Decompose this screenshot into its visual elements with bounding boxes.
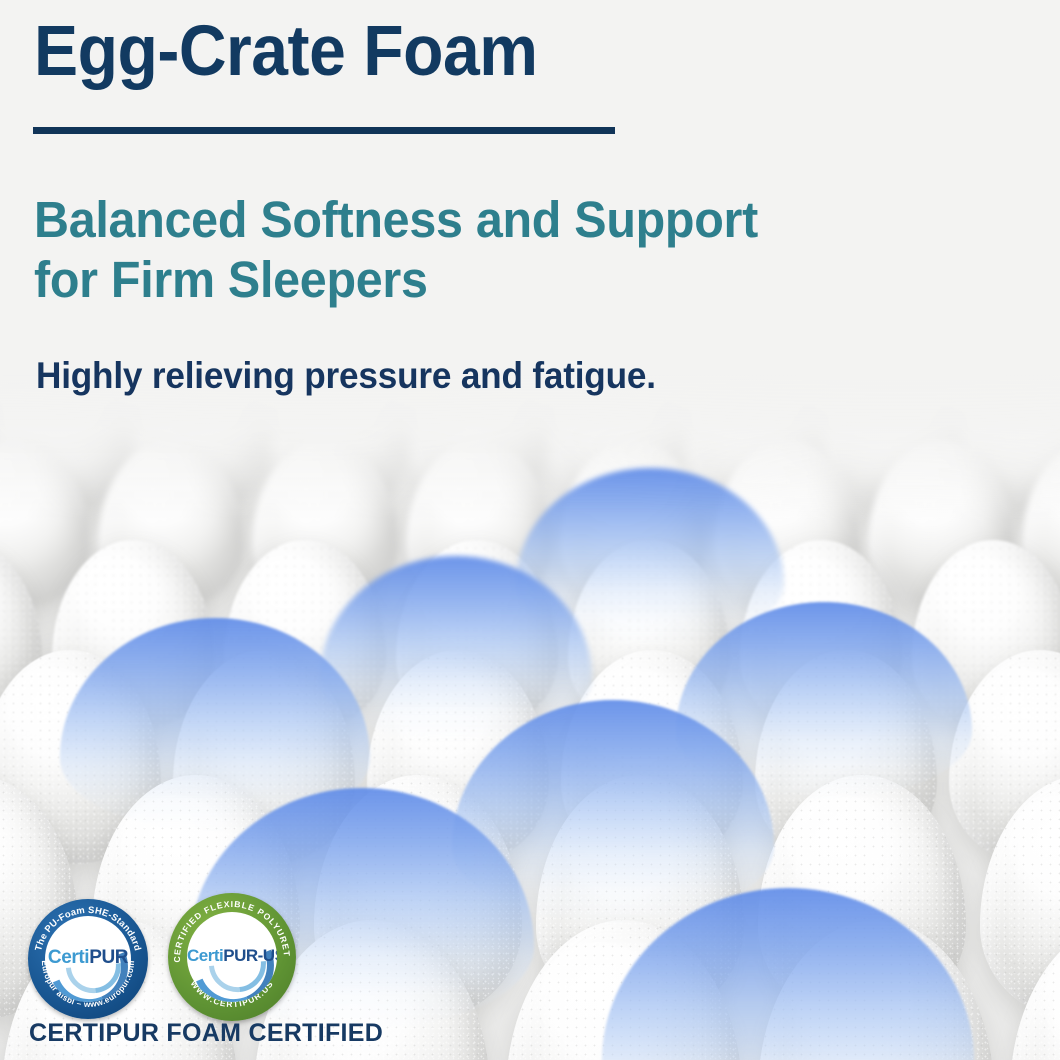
- certipur-us-badge-icon: CONTAINS CERTIFIED FLEXIBLE POLYURETHANE…: [168, 893, 296, 1021]
- certification-caption: CERTIPUR FOAM CERTIFIED: [29, 1019, 383, 1048]
- photo-lighting-overlay: [0, 0, 1060, 1060]
- page-title: Egg-Crate Foam: [34, 16, 537, 88]
- certipur-europe-wordmark: CertiPUR: [45, 947, 131, 969]
- tagline: Highly relieving pressure and fatigue.: [36, 355, 656, 397]
- certipur-us-wordmark: CertiPUR-US®: [187, 946, 277, 966]
- title-divider-rule: [33, 127, 615, 134]
- foam-photo: [0, 0, 1060, 1060]
- subtitle: Balanced Softness and Support for Firm S…: [34, 190, 984, 309]
- subtitle-line-1: Balanced Softness and Support: [34, 190, 984, 250]
- certipur-us-badge-face: CertiPUR-US®: [187, 912, 277, 1002]
- certipur-europe-badge-face: CertiPUR: [45, 916, 131, 1002]
- product-feature-card: Egg-Crate Foam Balanced Softness and Sup…: [0, 0, 1060, 1060]
- certipur-europe-badge-icon: The PU-Foam SHE-Standard Europur aisbl –…: [28, 899, 148, 1019]
- subtitle-line-2: for Firm Sleepers: [34, 250, 984, 310]
